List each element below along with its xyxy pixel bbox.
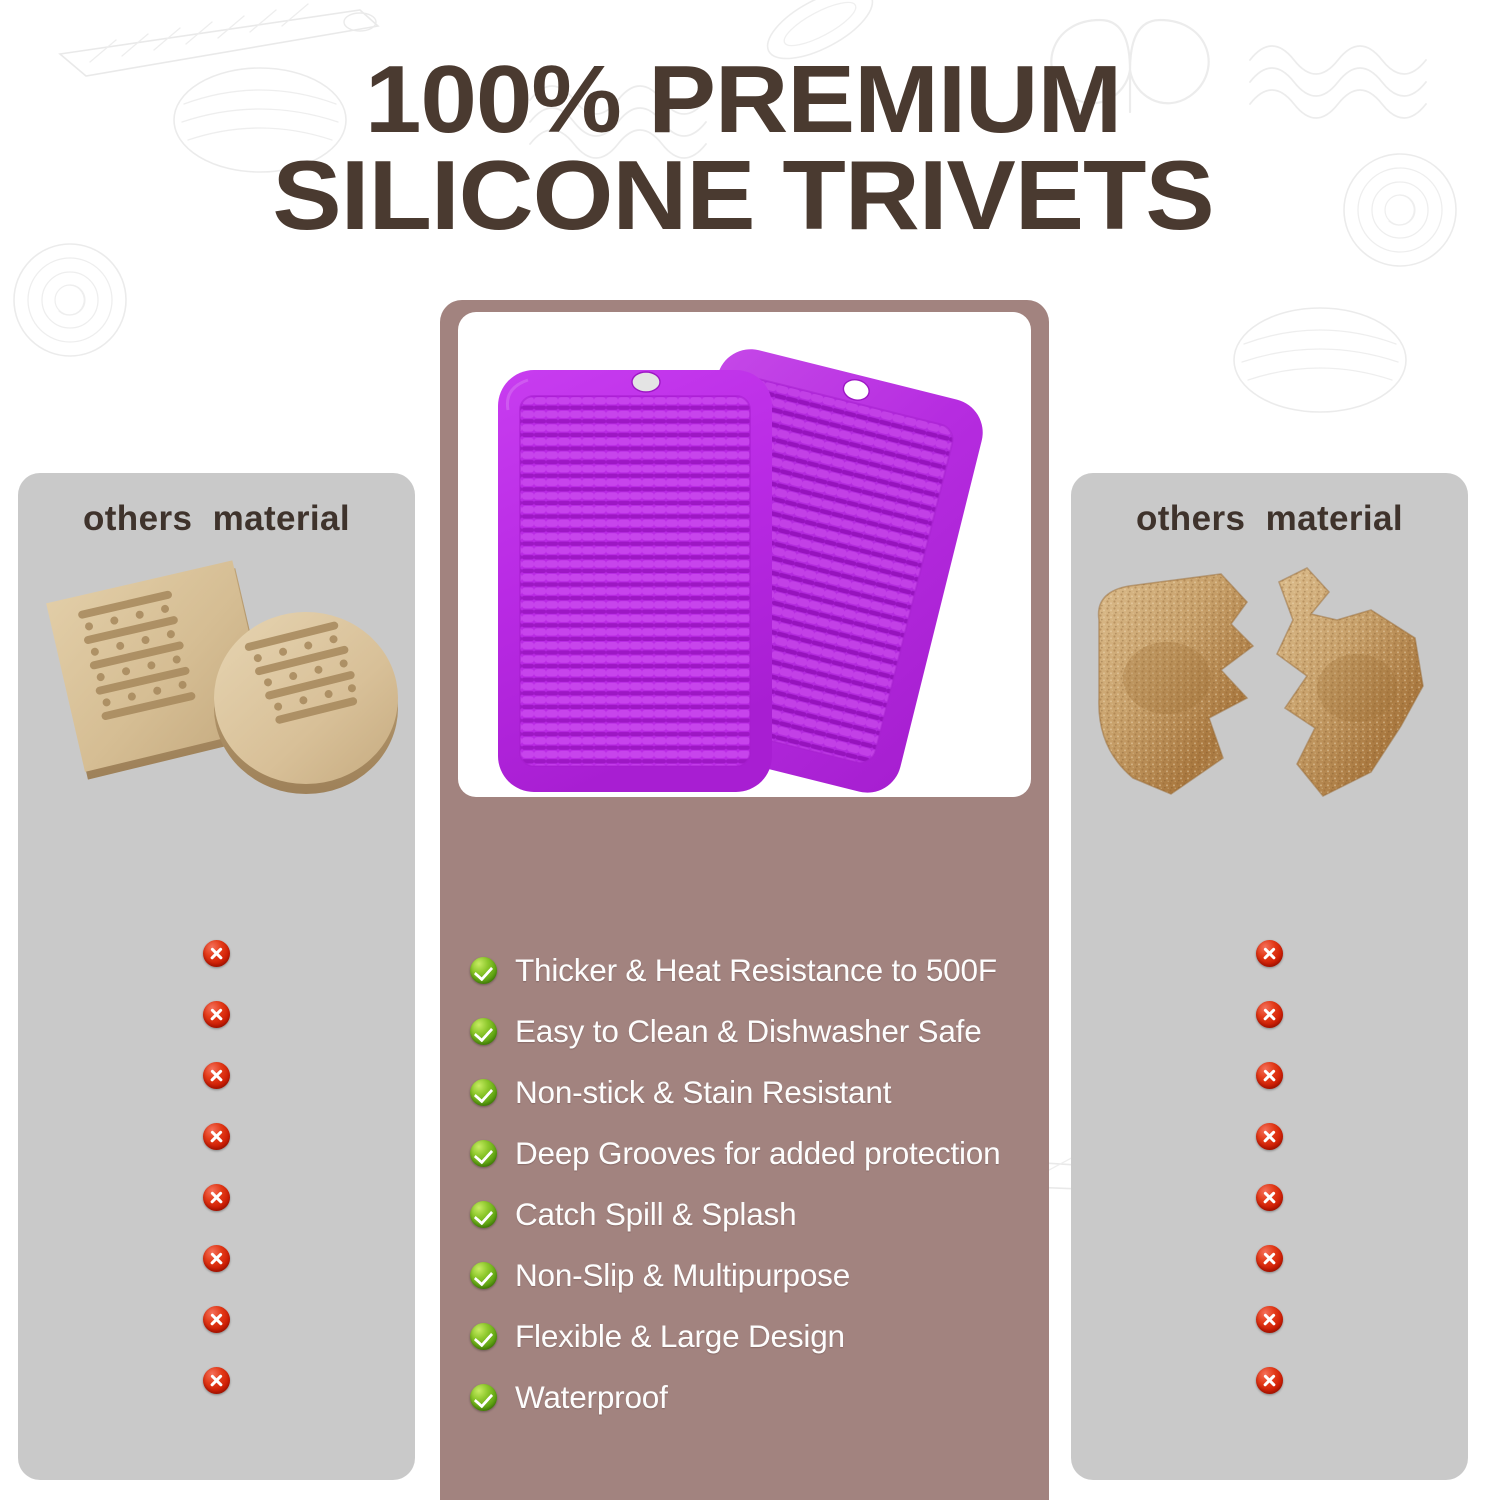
product-image-card [458, 312, 1031, 797]
feature-item: Flexible & Large Design [470, 1306, 1035, 1367]
cross-row [18, 1228, 415, 1289]
cross-row [1071, 923, 1468, 984]
cross-icon [203, 1001, 230, 1028]
feature-item: Non-Slip & Multipurpose [470, 1245, 1035, 1306]
cross-icon [203, 1306, 230, 1333]
check-icon [470, 1079, 497, 1106]
cross-row [1071, 1167, 1468, 1228]
feature-item: Waterproof [470, 1367, 1035, 1428]
cross-row [18, 1289, 415, 1350]
cross-icon [1256, 1123, 1283, 1150]
check-icon [470, 1201, 497, 1228]
cross-row [1071, 1106, 1468, 1167]
cross-row [1071, 984, 1468, 1045]
feature-label: Thicker & Heat Resistance to 500F [515, 955, 997, 987]
others-material-panel-right: others material [1071, 473, 1468, 1480]
headline-line-1: 100% PREMIUM [0, 52, 1486, 147]
cross-row [18, 1350, 415, 1411]
feature-label: Catch Spill & Splash [515, 1199, 796, 1231]
cracked-cork-image [1071, 558, 1468, 818]
feature-label: Non-Slip & Multipurpose [515, 1260, 850, 1292]
feature-item: Easy to Clean & Dishwasher Safe [470, 1001, 1035, 1062]
feature-label: Deep Grooves for added protection [515, 1138, 1000, 1170]
check-icon [470, 1018, 497, 1045]
cross-icon [1256, 1367, 1283, 1394]
silicone-trivets-panel: Thicker & Heat Resistance to 500F Easy t… [440, 300, 1049, 1500]
feature-list: Thicker & Heat Resistance to 500F Easy t… [470, 940, 1035, 1428]
page-title: 100% PREMIUM SILICONE TRIVETS [0, 52, 1486, 244]
check-icon [470, 1323, 497, 1350]
check-icon [470, 1384, 497, 1411]
cross-row [18, 1045, 415, 1106]
feature-item: Catch Spill & Splash [470, 1184, 1035, 1245]
feature-item: Thicker & Heat Resistance to 500F [470, 940, 1035, 1001]
purple-silicone-trivets-image [458, 312, 1031, 797]
cross-icon [1256, 1062, 1283, 1089]
cross-icon [1256, 1001, 1283, 1028]
cross-list-left [18, 923, 415, 1411]
cross-row [18, 984, 415, 1045]
cross-icon [203, 1367, 230, 1394]
panel-title-left: others material [18, 499, 415, 539]
check-icon [470, 1140, 497, 1167]
feature-label: Non-stick & Stain Resistant [515, 1077, 891, 1109]
check-icon [470, 957, 497, 984]
cross-row [1071, 1045, 1468, 1106]
headline-line-2: SILICONE TRIVETS [0, 147, 1486, 244]
cross-row [1071, 1289, 1468, 1350]
cross-icon [1256, 1245, 1283, 1272]
cross-row [1071, 1228, 1468, 1289]
panel-title-right: others material [1071, 499, 1468, 539]
feature-label: Flexible & Large Design [515, 1321, 845, 1353]
feature-label: Waterproof [515, 1382, 668, 1414]
cross-icon [1256, 940, 1283, 967]
feature-item: Deep Grooves for added protection [470, 1123, 1035, 1184]
cross-list-right [1071, 923, 1468, 1411]
cross-row [18, 1106, 415, 1167]
bamboo-trivets-image [18, 558, 415, 818]
feature-item: Non-stick & Stain Resistant [470, 1062, 1035, 1123]
cross-icon [1256, 1184, 1283, 1211]
cross-icon [203, 1184, 230, 1211]
cross-row [18, 1167, 415, 1228]
cross-icon [203, 940, 230, 967]
feature-label: Easy to Clean & Dishwasher Safe [515, 1016, 982, 1048]
check-icon [470, 1262, 497, 1289]
cross-icon [203, 1245, 230, 1272]
cross-icon [203, 1062, 230, 1089]
cross-row [18, 923, 415, 984]
others-material-panel-left: others material [18, 473, 415, 1480]
cross-icon [203, 1123, 230, 1150]
cross-icon [1256, 1306, 1283, 1333]
cross-row [1071, 1350, 1468, 1411]
